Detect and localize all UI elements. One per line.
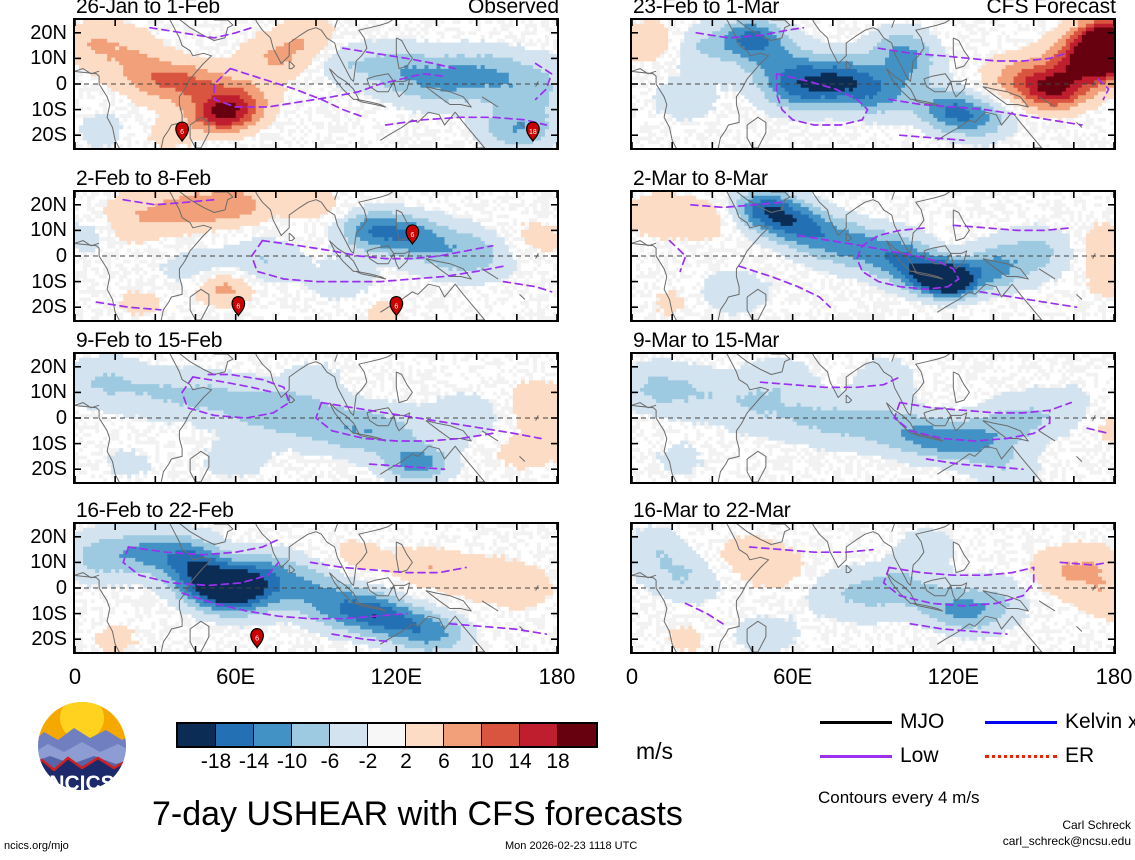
- legend-item-mjo[interactable]: MJO: [820, 710, 944, 734]
- colorbar-segment-10: [558, 724, 596, 746]
- y-tick-obs-1-2: 0: [5, 74, 67, 94]
- y-tick-obs-2-0: 20N: [5, 195, 67, 215]
- x-tick-fc-4-0: 0: [626, 664, 638, 690]
- figure-title: 7-day USHEAR with CFS forecasts: [152, 795, 683, 834]
- map-panel-fc-4[interactable]: [630, 522, 1116, 654]
- map-panel-fc-1[interactable]: [630, 18, 1116, 150]
- x-tick-obs-4-0: 0: [69, 664, 81, 690]
- legend-swatch-line-icon: [820, 721, 892, 724]
- ncics-logo[interactable]: NCICS: [28, 702, 136, 794]
- map-panel-fc-2[interactable]: [630, 190, 1116, 322]
- y-tick-obs-1-0: 20N: [5, 23, 67, 43]
- colorbar-tick-5: 2: [400, 750, 412, 774]
- legend-swatch-line-icon: [820, 755, 892, 758]
- legend-item-kelvin-x2[interactable]: Kelvin x2: [985, 710, 1135, 734]
- colorbar-tick-4: -2: [359, 750, 378, 774]
- colorbar-tick-1: -14: [239, 750, 269, 774]
- colorbar-tick-6: 6: [438, 750, 450, 774]
- map-panel-obs-4[interactable]: 6: [73, 522, 559, 654]
- panel-title-fc-1: 23-Feb to 1-Mar: [633, 0, 779, 19]
- forecast-column-header: CFS Forecast: [916, 0, 1116, 19]
- y-tick-obs-4-1: 10N: [5, 552, 67, 572]
- x-tick-obs-4-1: 60E: [216, 664, 255, 690]
- author-name: Carl Schreck: [895, 818, 1131, 832]
- colorbar-segment-2: [254, 724, 292, 746]
- map-panel-obs-2[interactable]: 666: [73, 190, 559, 322]
- site-link[interactable]: ncics.org/mjo: [4, 840, 69, 852]
- map-panel-obs-3[interactable]: [73, 352, 559, 484]
- x-tick-fc-4-2: 120E: [928, 664, 979, 690]
- legend-label: Kelvin x2: [1065, 710, 1135, 734]
- x-tick-obs-4-3: 180: [539, 664, 576, 690]
- y-tick-obs-4-2: 0: [5, 578, 67, 598]
- y-tick-obs-1-3: 10S: [5, 100, 67, 120]
- colorbar-segment-1: [216, 724, 254, 746]
- colorbar: -18-14-10-6-226101418: [176, 722, 598, 778]
- legend-swatch-line-icon: [985, 755, 1057, 758]
- y-tick-obs-2-1: 10N: [5, 220, 67, 240]
- y-tick-obs-4-0: 20N: [5, 527, 67, 547]
- panel-title-obs-4: 16-Feb to 22-Feb: [76, 499, 233, 523]
- timestamp: Mon 2026-02-23 1118 UTC: [505, 840, 637, 852]
- observed-column-header: Observed: [359, 0, 559, 19]
- colorbar-tick-9: 18: [546, 750, 569, 774]
- y-tick-obs-1-4: 20S: [5, 125, 67, 145]
- colorbar-segment-3: [292, 724, 330, 746]
- panel-title-fc-2: 2-Mar to 8-Mar: [633, 167, 768, 191]
- y-tick-obs-2-3: 10S: [5, 272, 67, 292]
- y-tick-obs-3-0: 20N: [5, 357, 67, 377]
- y-tick-obs-2-2: 0: [5, 246, 67, 266]
- colorbar-segment-5: [368, 724, 406, 746]
- colorbar-swatches: [176, 722, 598, 748]
- map-panel-fc-3[interactable]: [630, 352, 1116, 484]
- colorbar-tick-2: -10: [277, 750, 307, 774]
- legend-label: ER: [1065, 744, 1094, 768]
- logo-text: NCICS: [49, 772, 114, 794]
- contour-interval-note: Contours every 4 m/s: [818, 788, 980, 808]
- legend-item-low[interactable]: Low: [820, 744, 939, 768]
- colorbar-segment-4: [330, 724, 368, 746]
- author-email[interactable]: carl_schreck@ncsu.edu: [895, 834, 1131, 848]
- legend-item-er[interactable]: ER: [985, 744, 1094, 768]
- svg-text:6: 6: [180, 129, 184, 136]
- panel-title-obs-2: 2-Feb to 8-Feb: [76, 167, 211, 191]
- colorbar-tick-3: -6: [321, 750, 340, 774]
- map-panel-obs-1[interactable]: 618: [73, 18, 559, 150]
- colorbar-tick-8: 14: [508, 750, 531, 774]
- colorbar-tick-0: -18: [201, 750, 231, 774]
- colorbar-tick-7: 10: [470, 750, 493, 774]
- colorbar-tick-labels: -18-14-10-6-226101418: [176, 748, 598, 778]
- y-tick-obs-4-3: 10S: [5, 604, 67, 624]
- colorbar-segment-0: [178, 724, 216, 746]
- panel-title-obs-1: 26-Jan to 1-Feb: [76, 0, 220, 19]
- colorbar-segment-6: [406, 724, 444, 746]
- colorbar-segment-8: [482, 724, 520, 746]
- svg-text:18: 18: [529, 129, 537, 136]
- colorbar-units-label: m/s: [636, 738, 673, 765]
- y-tick-obs-3-3: 10S: [5, 434, 67, 454]
- colorbar-segment-9: [520, 724, 558, 746]
- y-tick-obs-2-4: 20S: [5, 297, 67, 317]
- y-tick-obs-1-1: 10N: [5, 48, 67, 68]
- x-tick-fc-4-3: 180: [1096, 664, 1133, 690]
- legend-swatch-line-icon: [985, 721, 1057, 724]
- panel-title-fc-3: 9-Mar to 15-Mar: [633, 329, 779, 353]
- y-tick-obs-4-4: 20S: [5, 629, 67, 649]
- y-tick-obs-3-2: 0: [5, 408, 67, 428]
- y-tick-obs-3-1: 10N: [5, 382, 67, 402]
- x-tick-fc-4-1: 60E: [773, 664, 812, 690]
- y-tick-obs-3-4: 20S: [5, 459, 67, 479]
- panel-title-fc-4: 16-Mar to 22-Mar: [633, 499, 790, 523]
- legend-label: Low: [900, 744, 939, 768]
- x-tick-obs-4-2: 120E: [371, 664, 422, 690]
- panel-title-obs-3: 9-Feb to 15-Feb: [76, 329, 222, 353]
- colorbar-segment-7: [444, 724, 482, 746]
- legend-label: MJO: [900, 710, 944, 734]
